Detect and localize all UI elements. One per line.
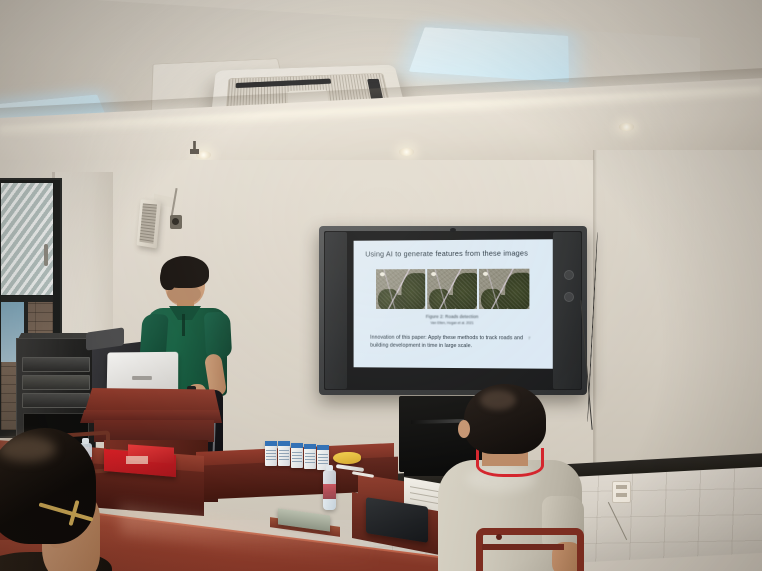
milk-carton[interactable] [291, 443, 303, 468]
display-side-panel [553, 232, 581, 389]
milk-carton[interactable] [265, 441, 277, 466]
display-screen[interactable]: Using AI to generate features from these… [354, 239, 553, 369]
security-camera-icon [170, 215, 182, 229]
figure-source: Van Etten, Hogan et al. 2021 [362, 321, 543, 325]
satellite-image [479, 269, 529, 309]
bottle-label [323, 484, 336, 499]
bottle-cap [326, 465, 333, 471]
display-camera-icon [450, 228, 456, 232]
conference-room-photo: Using AI to generate features from these… [0, 0, 762, 571]
presenter-hair-side [160, 264, 176, 290]
attendee-hair-highlight [480, 390, 516, 410]
attendee-ear [458, 420, 470, 438]
slide-figure-row [362, 269, 543, 309]
slide-page-number: 7 [528, 335, 530, 340]
podium-mid [94, 420, 214, 442]
laptop[interactable] [107, 352, 179, 395]
chair-knob [496, 534, 502, 540]
slide-content: Using AI to generate features from these… [354, 239, 553, 369]
folder-label [126, 456, 148, 464]
rack-unit [22, 393, 90, 408]
milk-carton[interactable] [278, 441, 290, 466]
window-handle[interactable] [44, 244, 48, 266]
attendee-seated-right [436, 384, 584, 571]
water-bottle[interactable] [323, 470, 336, 510]
satellite-image [427, 269, 477, 309]
figure-caption: Figure 2: Roads detection [362, 314, 543, 319]
display-menu-button[interactable] [564, 292, 574, 302]
window-blind[interactable] [1, 183, 53, 295]
wall-outlet[interactable] [612, 481, 631, 503]
downlight-icon [619, 123, 634, 131]
presenter-placket [182, 314, 185, 336]
milk-carton[interactable] [304, 444, 316, 469]
speaker-grille [139, 203, 157, 243]
rack-unit [22, 375, 90, 390]
chair-rail [482, 544, 564, 550]
slide-body-text: Innovation of this paper: Apply these me… [370, 334, 537, 352]
presenter-sleeve-right [204, 311, 232, 358]
rack-unit [22, 357, 90, 372]
presentation-display[interactable]: Using AI to generate features from these… [319, 226, 587, 395]
attendee-left-hair-highlight [0, 436, 56, 462]
display-power-button[interactable] [564, 270, 574, 280]
window-upper-pane [1, 183, 53, 295]
attendee-foreground-left [0, 428, 112, 571]
satellite-image [376, 269, 425, 309]
laptop-logo [132, 375, 152, 379]
slide-title: Using AI to generate features from these… [365, 248, 543, 258]
downlight-icon [399, 148, 414, 156]
bananas[interactable] [333, 452, 361, 464]
right-wall [594, 150, 762, 480]
display-left-column [325, 232, 347, 389]
